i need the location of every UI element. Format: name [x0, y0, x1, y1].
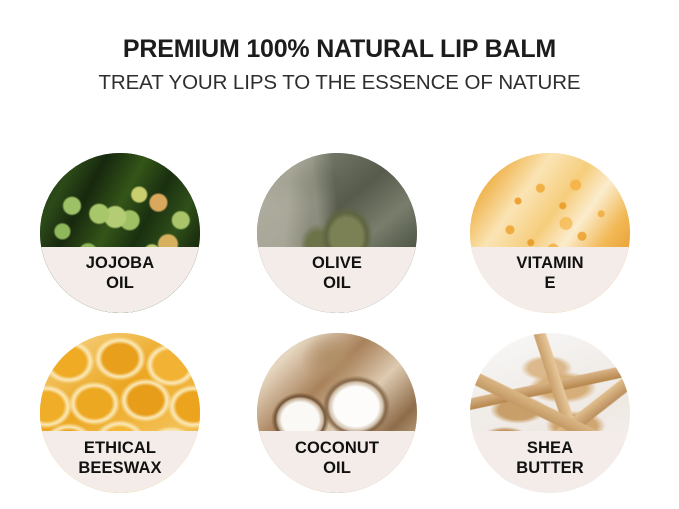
- ingredient-badge-shea-butter: SHEA BUTTER: [470, 333, 630, 493]
- ingredient-label-vitamin-e: VITAMIN E: [470, 247, 630, 313]
- ingredient-label-line1: VITAMIN: [516, 253, 583, 273]
- ingredient-label-line2: OIL: [323, 273, 351, 293]
- ingredient-label-ethical-beeswax: ETHICAL BEESWAX: [40, 431, 200, 493]
- ingredient-badge-vitamin-e: VITAMIN E: [470, 153, 630, 313]
- ingredient-label-shea-butter: SHEA BUTTER: [470, 431, 630, 493]
- ingredient-label-line1: JOJOBA: [86, 253, 154, 273]
- ingredient-label-coconut-oil: COCONUT OIL: [257, 431, 417, 493]
- ingredient-label-line2: OIL: [323, 458, 351, 478]
- ingredient-badge-ethical-beeswax: ETHICAL BEESWAX: [40, 333, 200, 493]
- ingredient-grid: JOJOBA OIL OLIVE OIL VITAMIN E ETHICAL: [40, 153, 640, 483]
- product-feature-banner: PREMIUM 100% NATURAL LIP BALM TREAT YOUR…: [0, 0, 679, 509]
- ingredient-label-line1: OLIVE: [312, 253, 362, 273]
- ingredient-badge-olive-oil: OLIVE OIL: [257, 153, 417, 313]
- page-title: PREMIUM 100% NATURAL LIP BALM: [0, 34, 679, 64]
- page-subtitle: TREAT YOUR LIPS TO THE ESSENCE OF NATURE: [0, 70, 679, 96]
- ingredient-badge-jojoba-oil: JOJOBA OIL: [40, 153, 200, 313]
- ingredient-label-line2: E: [544, 273, 555, 293]
- ingredient-label-line2: OIL: [106, 273, 134, 293]
- ingredient-label-line1: SHEA: [527, 438, 573, 458]
- ingredient-label-jojoba-oil: JOJOBA OIL: [40, 247, 200, 313]
- ingredient-label-olive-oil: OLIVE OIL: [257, 247, 417, 313]
- ingredient-label-line1: COCONUT: [295, 438, 379, 458]
- ingredient-label-line1: ETHICAL: [84, 438, 156, 458]
- ingredient-badge-coconut-oil: COCONUT OIL: [257, 333, 417, 493]
- ingredient-label-line2: BEESWAX: [78, 458, 161, 478]
- ingredient-label-line2: BUTTER: [516, 458, 584, 478]
- header-block: PREMIUM 100% NATURAL LIP BALM TREAT YOUR…: [0, 34, 679, 96]
